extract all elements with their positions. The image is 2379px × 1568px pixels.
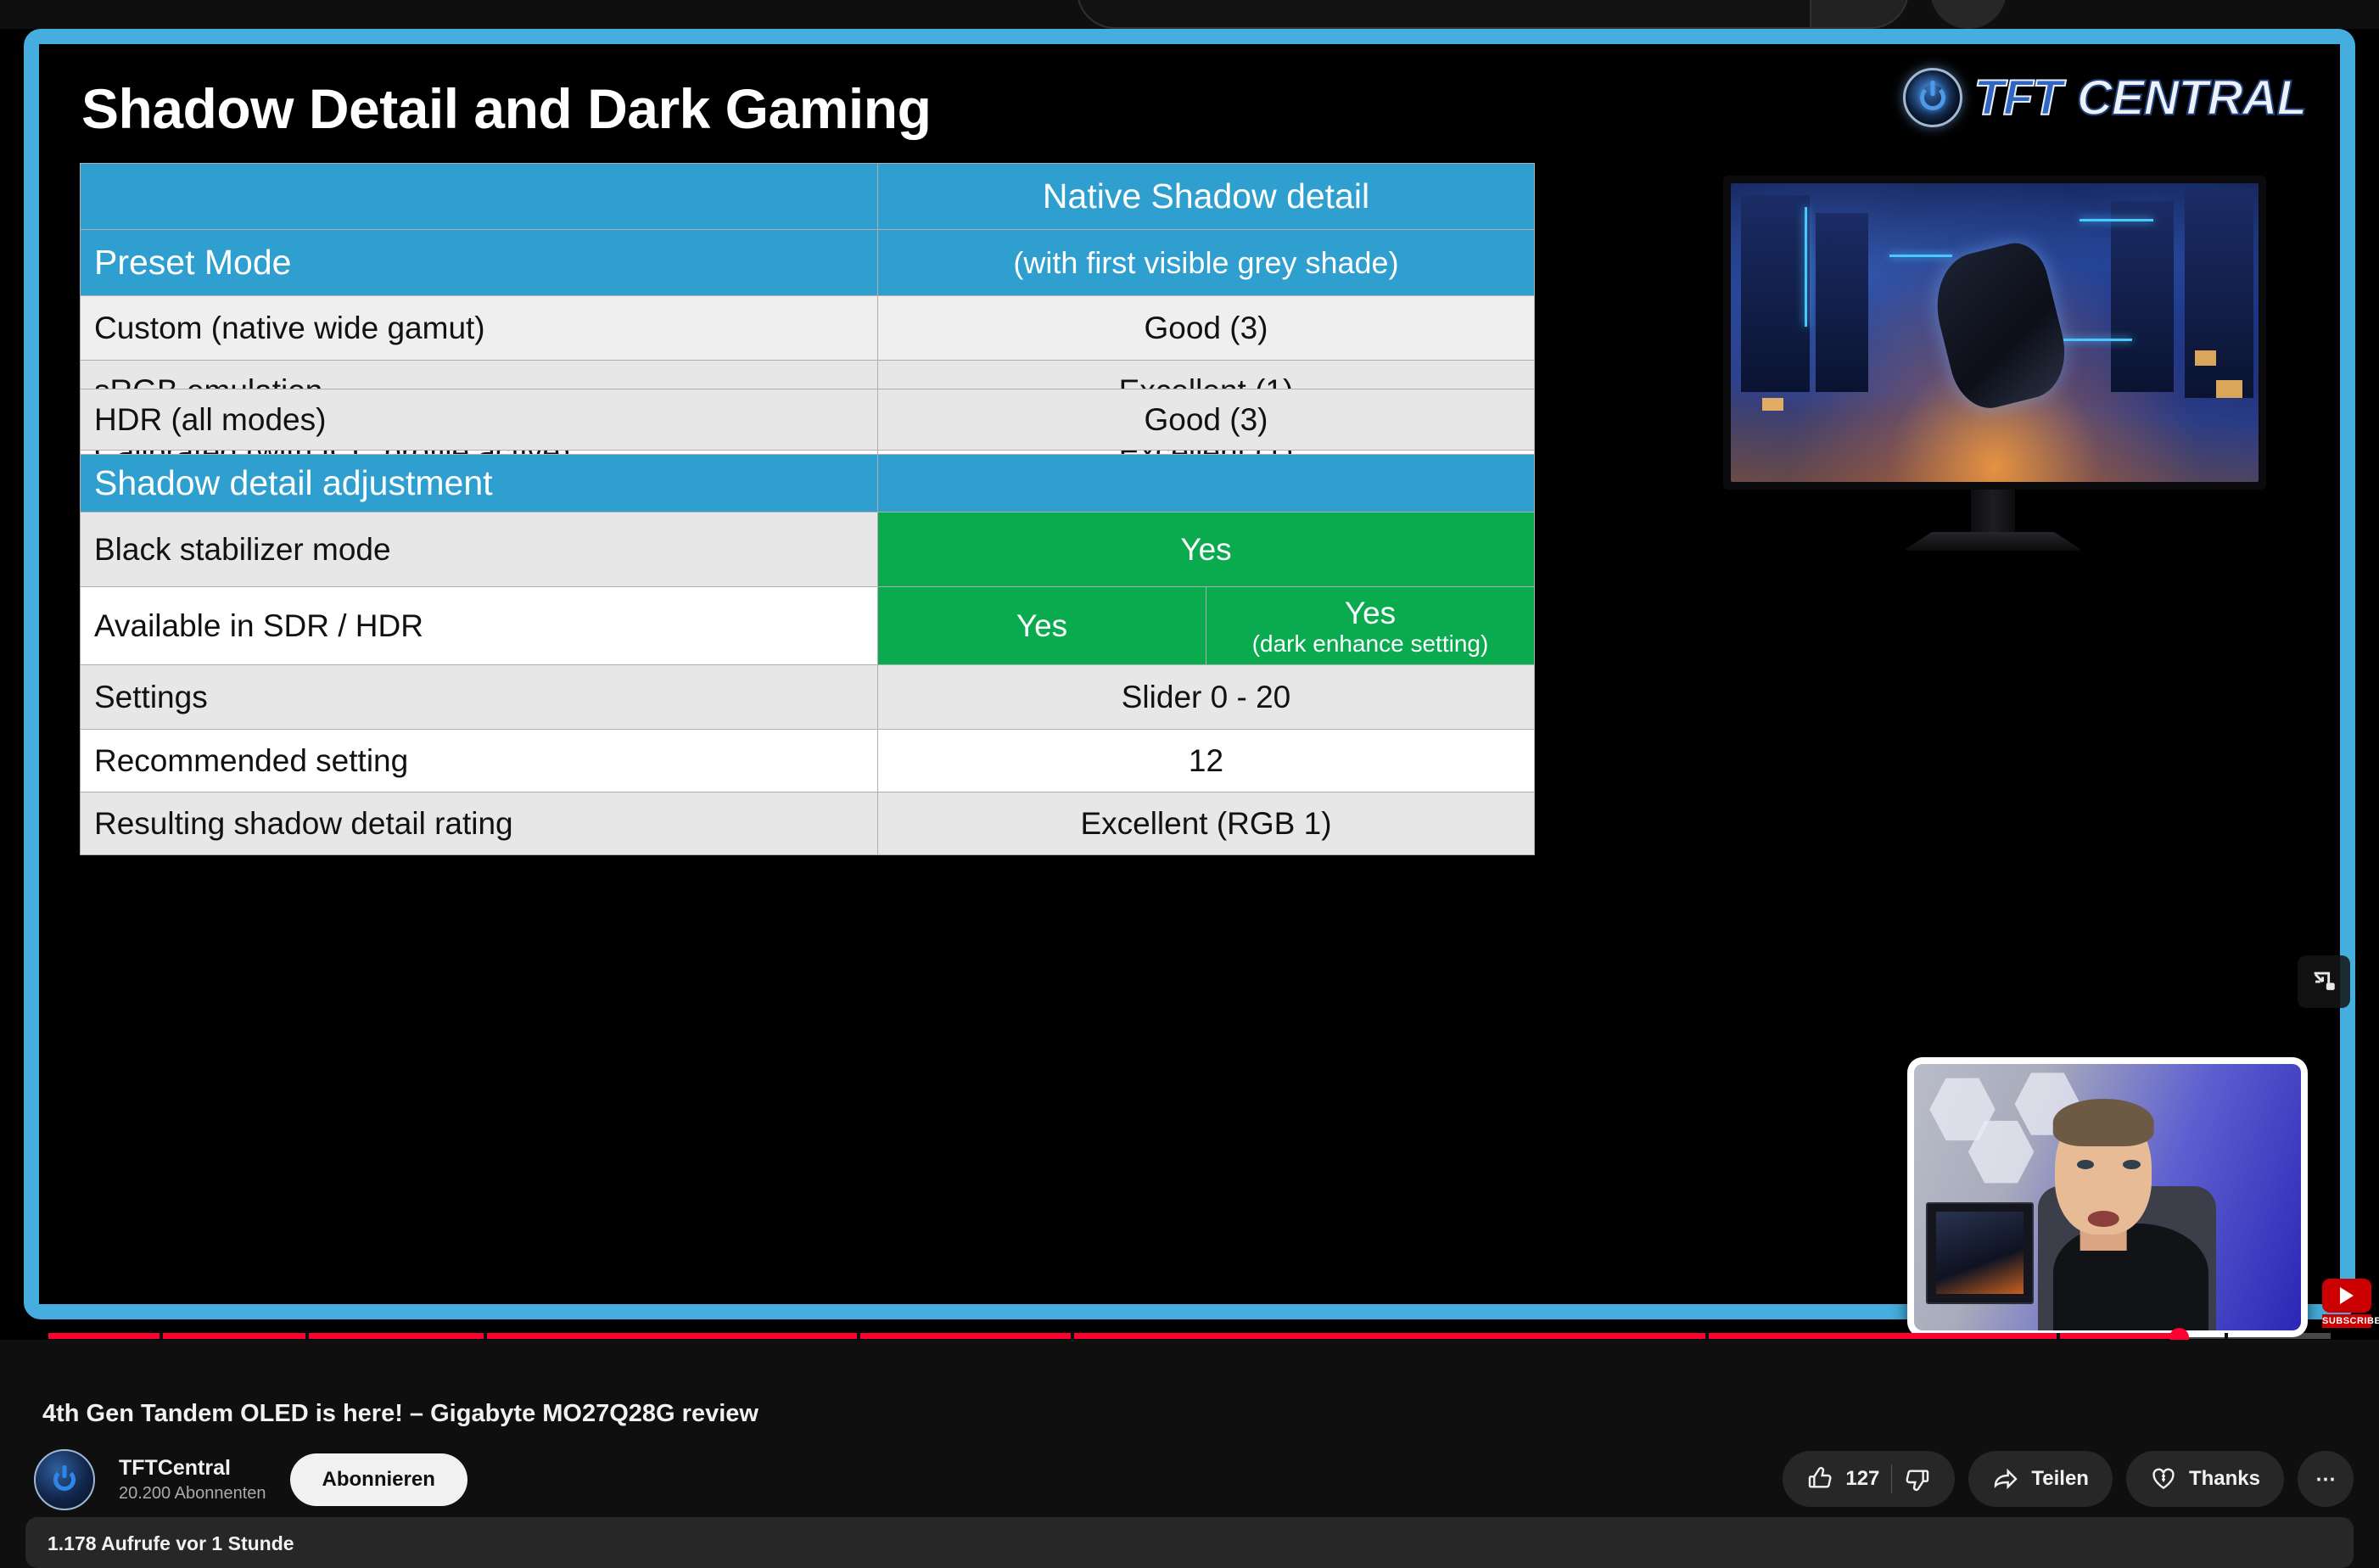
thanks-button[interactable]: Thanks (2126, 1451, 2284, 1507)
subheader-preset-mode: Preset Mode (81, 230, 878, 296)
monitor-bezel (1723, 176, 2266, 490)
slide-title: Shadow Detail and Dark Gaming (81, 76, 931, 141)
cell-adjust-value-hdr-main: Yes (1345, 596, 1396, 630)
thumbs-down-icon[interactable] (1904, 1465, 1931, 1492)
cell-preset-label: Custom (native wide gamut) (81, 296, 878, 361)
webcam-overlay (1907, 1057, 2308, 1337)
like-count: 127 (1845, 1467, 1879, 1491)
table-hdr-modes: HDR (all modes) Good (3) (80, 389, 1535, 451)
subscribe-button[interactable]: Abonnieren (290, 1453, 467, 1506)
video-player[interactable]: Shadow Detail and Dark Gaming TFT CENTRA… (0, 29, 2379, 1340)
cell-adjust-label: Settings (81, 665, 878, 730)
cell-adjust-value-hdr: Yes (dark enhance setting) (1206, 587, 1535, 665)
channel-name[interactable]: TFTCentral (119, 1456, 266, 1481)
table-row-subheader: Preset Mode (with first visible grey sha… (81, 230, 1535, 296)
power-icon (53, 1469, 76, 1491)
thumbs-up-icon[interactable] (1806, 1465, 1833, 1492)
cell-adjust-value: 12 (878, 730, 1535, 792)
avatar[interactable] (34, 1449, 95, 1510)
header-cell-blank (81, 164, 878, 230)
channel-owner-row: TFTCentral 20.200 Abonnenten Abonnieren (34, 1449, 467, 1510)
search-input[interactable] (1077, 0, 1811, 29)
table-row: Black stabilizer mode Yes (81, 512, 1535, 587)
progress-played (48, 1333, 2180, 1339)
cell-hdr-label: HDR (all modes) (81, 389, 878, 451)
cell-adjust-value: Yes (878, 512, 1535, 587)
heart-dollar-icon (2150, 1465, 2177, 1492)
webcam-video (1914, 1064, 2301, 1330)
divider (1891, 1464, 1892, 1493)
cell-adjust-label: Available in SDR / HDR (81, 587, 878, 665)
channel-info: TFTCentral 20.200 Abonnenten (119, 1456, 266, 1504)
table-row: Recommended setting 12 (81, 730, 1535, 792)
cell-adjust-label: Recommended setting (81, 730, 878, 792)
video-title: 4th Gen Tandem OLED is here! – Gigabyte … (42, 1400, 758, 1428)
more-actions-button[interactable]: ⋯ (2298, 1451, 2354, 1507)
cell-adjust-value-hdr-sub: (dark enhance setting) (1220, 631, 1520, 656)
game-character (1925, 238, 2075, 417)
share-icon (1992, 1465, 2019, 1492)
logo-text-tft: TFT (1974, 70, 2062, 126)
voice-search-button[interactable] (1930, 0, 2007, 29)
cell-adjust-value: Excellent (RGB 1) (878, 792, 1535, 855)
share-label: Teilen (2031, 1467, 2089, 1491)
header-shadow-detail-adjustment: Shadow detail adjustment (81, 455, 878, 512)
power-icon (1903, 68, 1962, 127)
cell-adjust-value: Slider 0 - 20 (878, 665, 1535, 730)
cell-adjust-label: Resulting shadow detail rating (81, 792, 878, 855)
subscribe-watermark-label: SUBSCRIBE (2322, 1314, 2371, 1328)
tftcentral-logo: TFT CENTRAL (1903, 68, 2306, 127)
picture-in-picture-icon[interactable] (2298, 955, 2350, 1008)
progress-bar[interactable] (0, 1330, 2379, 1340)
table-row-header: Shadow detail adjustment (81, 455, 1535, 512)
youtube-play-icon (2322, 1279, 2371, 1313)
table-row: Settings Slider 0 - 20 (81, 665, 1535, 730)
table-row: Custom (native wide gamut) Good (3) (81, 296, 1535, 361)
video-action-buttons: 127 Teilen (1783, 1451, 2354, 1507)
thanks-label: Thanks (2189, 1467, 2260, 1491)
cell-hdr-value: Good (3) (878, 389, 1535, 451)
description-box[interactable]: 1.178 Aufrufe vor 1 Stunde A full review… (25, 1517, 2354, 1568)
table-row: Resulting shadow detail rating Excellent… (81, 792, 1535, 855)
person-torso (2053, 1224, 2208, 1330)
header-cell-blank-2 (878, 455, 1535, 512)
monitor-screen-content (1731, 183, 2259, 482)
share-button[interactable]: Teilen (1968, 1451, 2113, 1507)
progress-scrubber[interactable] (2169, 1328, 2189, 1340)
header-cell-native-shadow-detail: Native Shadow detail (878, 164, 1535, 230)
monitor-stand (1971, 490, 2015, 536)
table-shadow-detail-adjustment: Shadow detail adjustment Black stabilize… (80, 454, 1535, 855)
subheader-grey-shade: (with first visible grey shade) (878, 230, 1535, 296)
view-count-and-date: 1.178 Aufrufe vor 1 Stunde (48, 1532, 2331, 1555)
table-row: HDR (all modes) Good (3) (81, 389, 1535, 451)
background-tv (1926, 1202, 2035, 1303)
like-dislike-group: 127 (1783, 1451, 1955, 1507)
cell-adjust-value-sdr: Yes (878, 587, 1206, 665)
table-row-header: Native Shadow detail (81, 164, 1535, 230)
subscriber-count: 20.200 Abonnenten (119, 1484, 266, 1504)
cell-adjust-label: Black stabilizer mode (81, 512, 878, 587)
logo-text-central: CENTRAL (2077, 70, 2306, 126)
top-bar (0, 0, 2379, 29)
monitor-base (1903, 532, 2083, 551)
cell-preset-value: Good (3) (878, 296, 1535, 361)
monitor-product-image (1723, 176, 2266, 540)
table-row: Available in SDR / HDR Yes Yes (dark enh… (81, 587, 1535, 665)
subscribe-watermark[interactable]: SUBSCRIBE (2322, 1279, 2371, 1336)
search-button[interactable] (1811, 0, 1909, 29)
